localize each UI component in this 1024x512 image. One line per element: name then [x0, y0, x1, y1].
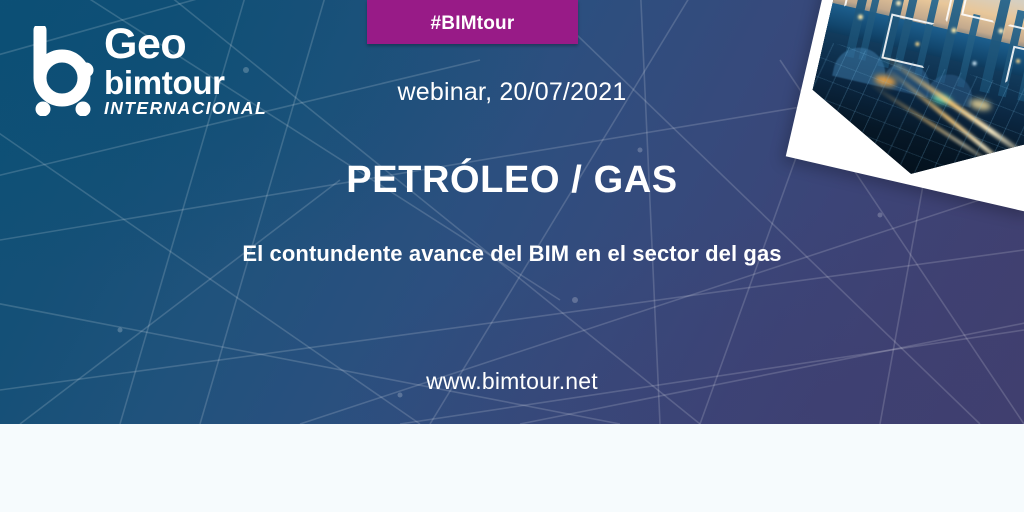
webinar-poster: #BIMtour Geo bimtour INTERNACIONAL webin…	[0, 0, 1024, 512]
page-title: PETRÓLEO / GAS	[100, 159, 924, 202]
page-subtitle: El contundente avance del BIM en el sect…	[60, 241, 964, 267]
sponsor-logo-row: BIM Academy 1 8 6 1 COLEGIO DE INGENIERO…	[0, 424, 1024, 512]
hero-background: #BIMtour Geo bimtour INTERNACIONAL webin…	[0, 0, 1024, 424]
website-url-text: www.bimtour.net	[100, 368, 924, 395]
sponsor-footer: BIM Academy 1 8 6 1 COLEGIO DE INGENIERO…	[0, 424, 1024, 512]
